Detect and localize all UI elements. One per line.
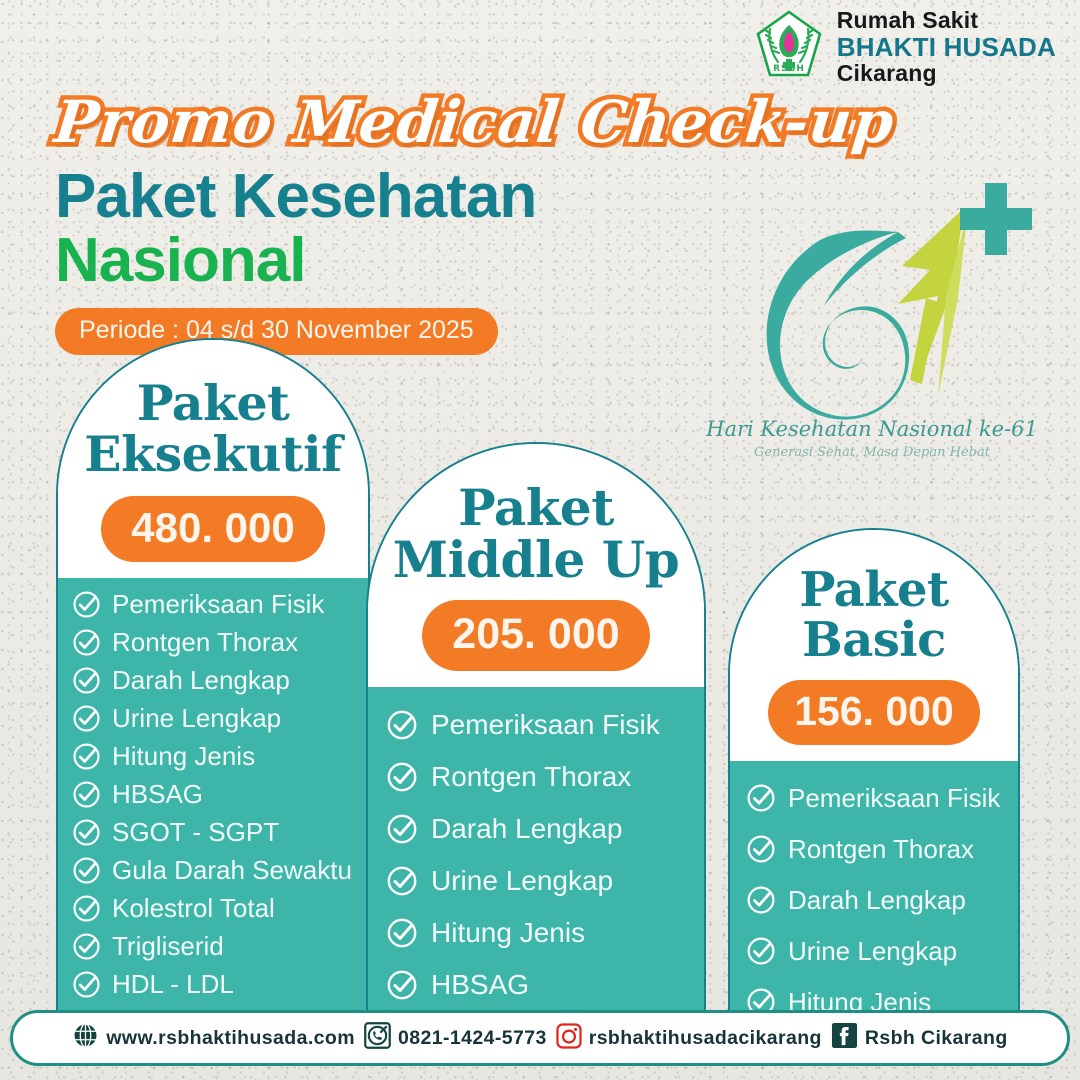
contact-facebook[interactable]: Rsbh Cikarang [831,1022,1008,1054]
package-name-line-1: Paket [68,378,358,429]
check-circle-icon [72,856,101,885]
feature-label: Hitung Jenis [431,917,585,949]
check-circle-icon [746,834,776,864]
feature-label: HBSAG [431,969,529,1001]
package-name-line-2: Eksekutif [68,429,358,480]
brand-line-1: Rumah Sakit [837,8,1056,33]
list-item: Pemeriksaan Fisik [746,773,1018,824]
globe-icon [72,1022,99,1054]
footer-contact-bar: www.rsbhaktihusada.com 0821-1424-5773 rs… [10,1010,1070,1066]
feature-label: Gula Darah Sewaktu [112,855,352,886]
package-name: Paket Middle Up [378,482,694,586]
title-line-1: Paket Kesehatan [55,166,775,228]
facebook-text: Rsbh Cikarang [865,1027,1008,1050]
check-circle-icon [746,885,776,915]
package-card-eksekutif[interactable]: Paket Eksekutif 480. 000 Pemeriksaan Fis… [56,338,370,1018]
contact-whatsapp[interactable]: 0821-1424-5773 [364,1022,547,1054]
check-circle-icon [72,666,101,695]
package-name-line-1: Paket [740,566,1008,616]
feature-label: Darah Lengkap [788,885,966,916]
feature-label: Rontgen Thorax [788,834,974,865]
check-circle-icon [386,917,418,949]
check-circle-icon [746,783,776,813]
contact-instagram[interactable]: rsbhaktihusadacikarang [556,1023,822,1054]
check-circle-icon [72,894,101,923]
list-item: Darah Lengkap [746,875,1018,926]
card-header: Paket Basic 156. 000 [730,530,1018,761]
check-circle-icon [386,709,418,741]
feature-label: Pemeriksaan Fisik [431,709,660,741]
feature-label: Urine Lengkap [788,936,957,967]
check-circle-icon [386,969,418,1001]
package-card-basic[interactable]: Paket Basic 156. 000 Pemeriksaan Fisik R… [728,528,1020,1018]
promo-script-title: Promo Medical Check-up [51,88,778,156]
hkn-caption: Hari Kesehatan Nasional ke-61 [705,417,1038,441]
hkn-tagline: Generasi Sehat, Masa Depan Hebat [754,445,991,460]
feature-label: Rontgen Thorax [112,627,298,658]
headline-block: Promo Medical Check-up Paket Kesehatan N… [55,88,775,355]
list-item: Gula Darah Sewaktu [72,852,368,890]
list-item: Darah Lengkap [72,662,368,700]
list-item: HDL - LDL [72,966,368,1004]
list-item: Urine Lengkap [746,926,1018,977]
list-item: Hitung Jenis [72,738,368,776]
feature-label: HBSAG [112,779,203,810]
check-circle-icon [72,780,101,809]
list-item: HBSAG [72,776,368,814]
contact-website[interactable]: www.rsbhaktihusada.com [72,1022,355,1054]
list-item: Urine Lengkap [386,855,704,907]
feature-label: HDL - LDL [112,969,234,1000]
list-item: Rontgen Thorax [72,624,368,662]
list-item: Trigliserid [72,928,368,966]
feature-label: Pemeriksaan Fisik [788,783,1000,814]
hospital-brand: RSBH Rumah Sakit BHAKTI HUSADA Cikarang [753,8,1056,86]
feature-label: Trigliserid [112,931,224,962]
list-item: Hitung Jenis [386,907,704,959]
check-circle-icon [386,761,418,793]
svg-text:RSBH: RSBH [773,64,805,74]
feature-label: SGOT - SGPT [112,817,279,848]
check-circle-icon [72,742,101,771]
card-header: Paket Eksekutif 480. 000 [58,340,368,578]
medical-cross-icon [960,183,1032,255]
check-circle-icon [72,628,101,657]
list-item: SGOT - SGPT [72,814,368,852]
hkn-61-emblem: Hari Kesehatan Nasional ke-61 Generasi S… [702,148,1042,478]
title-line-2: Nasional [55,228,775,294]
feature-list: Pemeriksaan Fisik Rontgen Thorax Darah L… [368,687,704,1018]
check-circle-icon [72,590,101,619]
package-name-line-1: Paket [378,482,694,534]
brand-line-2: BHAKTI HUSADA [837,33,1056,61]
package-price: 480. 000 [101,496,325,562]
package-name: Paket Eksekutif [68,378,358,480]
list-item: Pemeriksaan Fisik [386,699,704,751]
card-header: Paket Middle Up 205. 000 [368,444,704,687]
list-item: Rontgen Thorax [386,751,704,803]
whatsapp-text: 0821-1424-5773 [398,1027,547,1050]
feature-label: Darah Lengkap [431,813,622,845]
check-circle-icon [386,865,418,897]
check-circle-icon [72,704,101,733]
feature-label: Rontgen Thorax [431,761,631,793]
package-name-line-2: Middle Up [378,534,694,586]
check-circle-icon [386,813,418,845]
instagram-text: rsbhaktihusadacikarang [589,1027,822,1050]
feature-label: Darah Lengkap [112,665,290,696]
package-name-line-2: Basic [740,616,1008,666]
list-item: Rontgen Thorax [746,824,1018,875]
feature-list: Pemeriksaan Fisik Rontgen Thorax Darah L… [730,761,1018,1018]
list-item: HBSAG [386,959,704,1011]
feature-label: Urine Lengkap [431,865,613,897]
package-card-middle-up[interactable]: Paket Middle Up 205. 000 Pemeriksaan Fis… [366,442,706,1018]
website-text: www.rsbhaktihusada.com [106,1027,355,1050]
feature-list: Pemeriksaan Fisik Rontgen Thorax Darah L… [58,578,368,1016]
feature-label: Urine Lengkap [112,703,281,734]
instagram-icon [556,1023,582,1054]
list-item: Pemeriksaan Fisik [72,586,368,624]
list-item: Darah Lengkap [386,803,704,855]
feature-label: Hitung Jenis [112,741,255,772]
facebook-icon [831,1022,858,1054]
brand-line-3: Cikarang [837,61,1056,86]
feature-label: Pemeriksaan Fisik [112,589,324,620]
check-circle-icon [72,818,101,847]
list-item: Kolestrol Total [72,890,368,928]
package-price: 205. 000 [422,600,649,671]
check-circle-icon [72,970,101,999]
list-item: Urine Lengkap [72,700,368,738]
check-circle-icon [746,936,776,966]
package-price: 156. 000 [768,680,980,745]
check-circle-icon [72,932,101,961]
feature-label: Kolestrol Total [112,893,275,924]
whatsapp-icon [364,1022,391,1054]
rsbh-hospital-logo-icon: RSBH [753,9,825,85]
package-name: Paket Basic [740,566,1008,666]
